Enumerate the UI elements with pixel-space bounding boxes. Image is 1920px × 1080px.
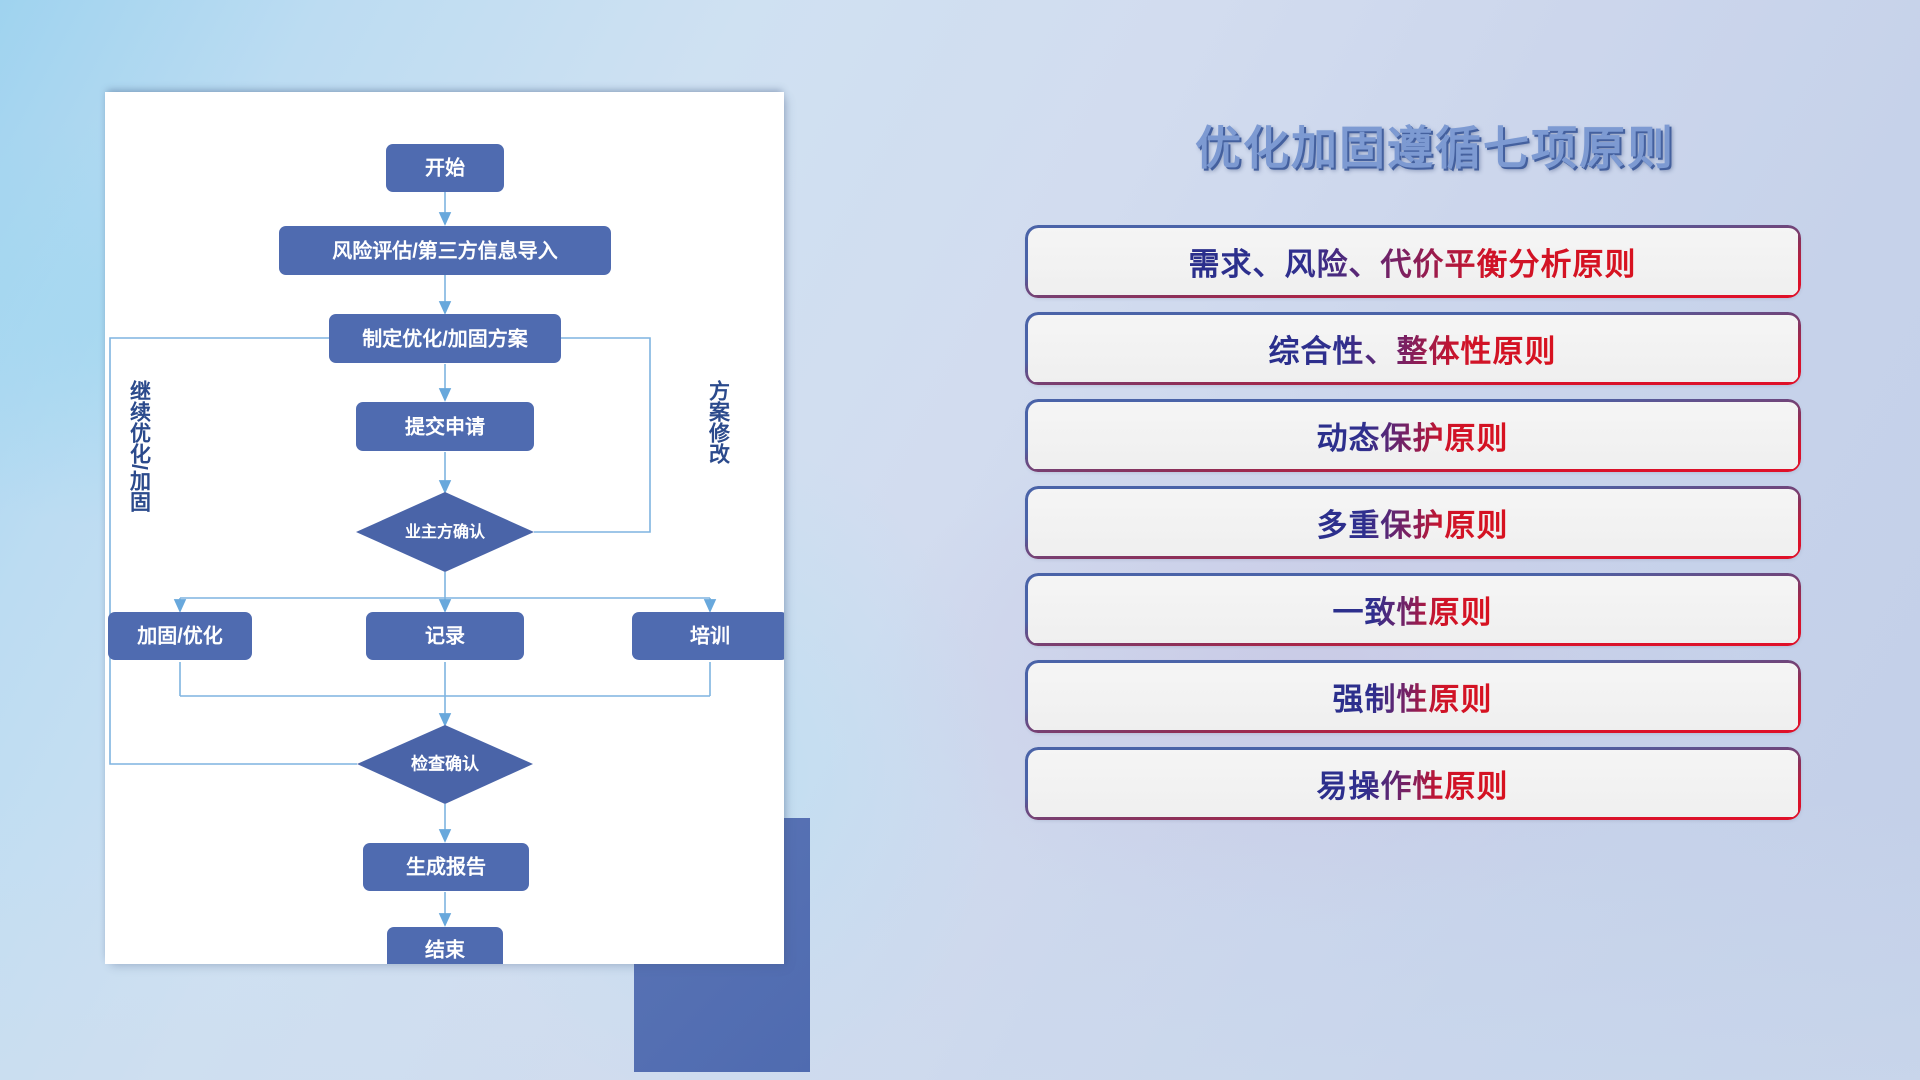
principles-panel: 优化加固遵循七项原则 需求、风险、代价平衡分析原则 综合性、整体性原则 动态保护…: [1020, 0, 1850, 1080]
edge-label-continue-optimize: 继续优化/加固: [128, 379, 153, 512]
node-owner-confirm-label: 业主方确认: [405, 522, 486, 541]
node-submit-application[interactable]: 提交申请: [356, 402, 534, 451]
flowchart-panel: 开始 风险评估/第三方信息导入 制定优化/加固方案 提交申请 业主方确认 加固/…: [105, 92, 783, 976]
principle-card-3-label: 动态保护原则: [1317, 413, 1509, 458]
node-make-plan[interactable]: 制定优化/加固方案: [329, 314, 561, 363]
principle-card-1[interactable]: 需求、风险、代价平衡分析原则: [1025, 225, 1800, 297]
node-end[interactable]: 结束: [387, 927, 503, 964]
principle-card-4-label: 多重保护原则: [1317, 500, 1509, 545]
node-generate-report-label: 生成报告: [406, 854, 486, 878]
node-start[interactable]: 开始: [386, 144, 504, 192]
principle-card-7[interactable]: 易操作性原则: [1025, 747, 1800, 819]
edge-label-plan-revise: 方案修改: [707, 379, 732, 465]
node-submit-application-label: 提交申请: [405, 414, 485, 438]
principle-card-7-label: 易操作性原则: [1317, 761, 1509, 806]
principle-card-2-label: 综合性、整体性原则: [1269, 326, 1557, 371]
node-owner-confirm[interactable]: 业主方确认: [356, 492, 534, 572]
principle-card-1-label: 需求、风险、代价平衡分析原则: [1189, 239, 1637, 284]
principle-card-6[interactable]: 强制性原则: [1025, 660, 1800, 732]
node-record[interactable]: 记录: [366, 612, 524, 660]
principle-card-3[interactable]: 动态保护原则: [1025, 399, 1800, 471]
node-risk-assessment-label: 风险评估/第三方信息导入: [332, 238, 558, 262]
node-record-label: 记录: [425, 624, 465, 647]
flowchart-diagram: 开始 风险评估/第三方信息导入 制定优化/加固方案 提交申请 业主方确认 加固/…: [105, 92, 784, 964]
node-generate-report[interactable]: 生成报告: [363, 843, 529, 891]
principle-card-5-label: 一致性原则: [1333, 587, 1493, 632]
node-start-label: 开始: [425, 155, 465, 179]
node-risk-assessment[interactable]: 风险评估/第三方信息导入: [279, 226, 611, 275]
principle-card-2[interactable]: 综合性、整体性原则: [1025, 312, 1800, 384]
principles-list: 需求、风险、代价平衡分析原则 综合性、整体性原则 动态保护原则 多重保护原则 一…: [1025, 225, 1815, 834]
node-reinforce[interactable]: 加固/优化: [108, 612, 252, 660]
page-title: 优化加固遵循七项原则: [1020, 112, 1850, 178]
node-reinforce-label: 加固/优化: [136, 623, 223, 647]
principle-card-5[interactable]: 一致性原则: [1025, 573, 1800, 645]
node-make-plan-label: 制定优化/加固方案: [362, 326, 529, 350]
principle-card-4[interactable]: 多重保护原则: [1025, 486, 1800, 558]
principle-card-6-label: 强制性原则: [1333, 674, 1493, 719]
node-check-confirm-label: 检查确认: [411, 753, 480, 773]
node-check-confirm[interactable]: 检查确认: [357, 725, 533, 804]
node-training[interactable]: 培训: [632, 612, 784, 660]
edge-check-plan-loop: [110, 338, 386, 764]
node-end-label: 结束: [425, 937, 466, 961]
node-training-label: 培训: [690, 623, 730, 647]
